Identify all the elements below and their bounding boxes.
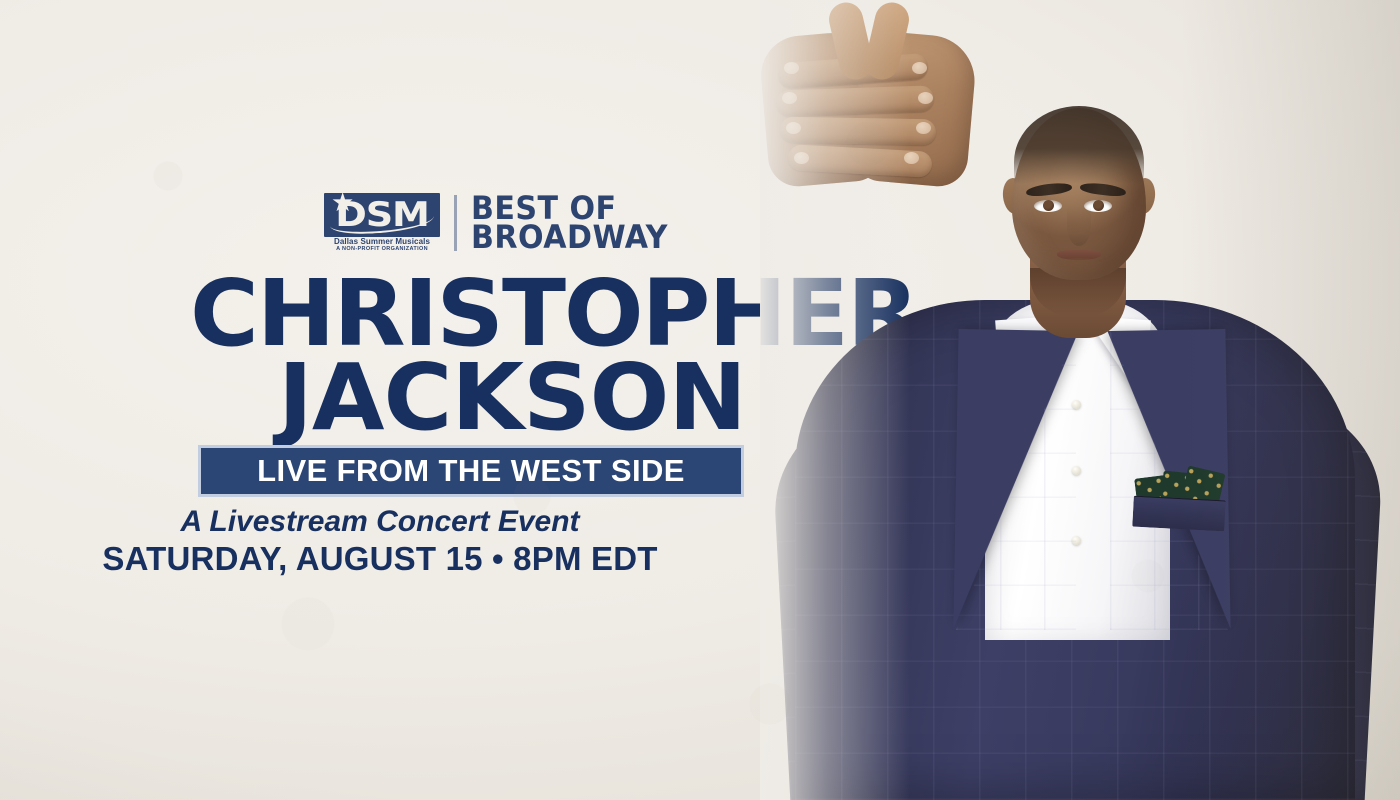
- logo-lockup: DSM ★ Dallas Summer Musicals A NON-PROFI…: [324, 193, 680, 253]
- promo-poster: DSM ★ Dallas Summer Musicals A NON-PROFI…: [0, 0, 1400, 800]
- finger: [776, 85, 935, 116]
- fingernail: [904, 152, 919, 164]
- nose: [1067, 206, 1091, 246]
- performer-last-name: JACKSON: [278, 352, 746, 444]
- show-title-banner: LIVE FROM THE WEST SIDE: [198, 445, 744, 497]
- best-of-broadway-wordmark: BEST OF BROADWAY: [471, 194, 680, 253]
- event-datetime: SATURDAY, AUGUST 15 • 8PM EDT: [0, 540, 760, 578]
- dsm-logo-mark: DSM ★ Dallas Summer Musicals A NON-PROFI…: [324, 193, 440, 253]
- fingernail: [916, 122, 931, 134]
- dsm-logo-subtitle: Dallas Summer Musicals: [324, 237, 440, 246]
- finger: [780, 117, 936, 146]
- iris-left: [1043, 200, 1054, 211]
- text-content-panel: DSM ★ Dallas Summer Musicals A NON-PROFI…: [0, 0, 790, 800]
- best-of-broadway-line-2: BROADWAY: [471, 223, 668, 252]
- fingernail: [912, 62, 927, 74]
- hair: [1014, 106, 1144, 184]
- logo-divider: [454, 195, 457, 251]
- fingernail: [794, 152, 809, 164]
- event-subtitle: A Livestream Concert Event: [0, 505, 760, 539]
- fingernail: [782, 92, 797, 104]
- breast-pocket: [1132, 496, 1225, 532]
- show-title-text: LIVE FROM THE WEST SIDE: [257, 453, 685, 489]
- fingernail: [784, 62, 799, 74]
- iris-right: [1093, 200, 1104, 211]
- clasped-hands: [760, 0, 980, 196]
- fingernail: [786, 122, 801, 134]
- performer-portrait: [760, 0, 1400, 800]
- chin: [1050, 258, 1108, 280]
- dsm-logo-tagline: A NON-PROFIT ORGANIZATION: [324, 246, 440, 252]
- fingernail: [918, 92, 933, 104]
